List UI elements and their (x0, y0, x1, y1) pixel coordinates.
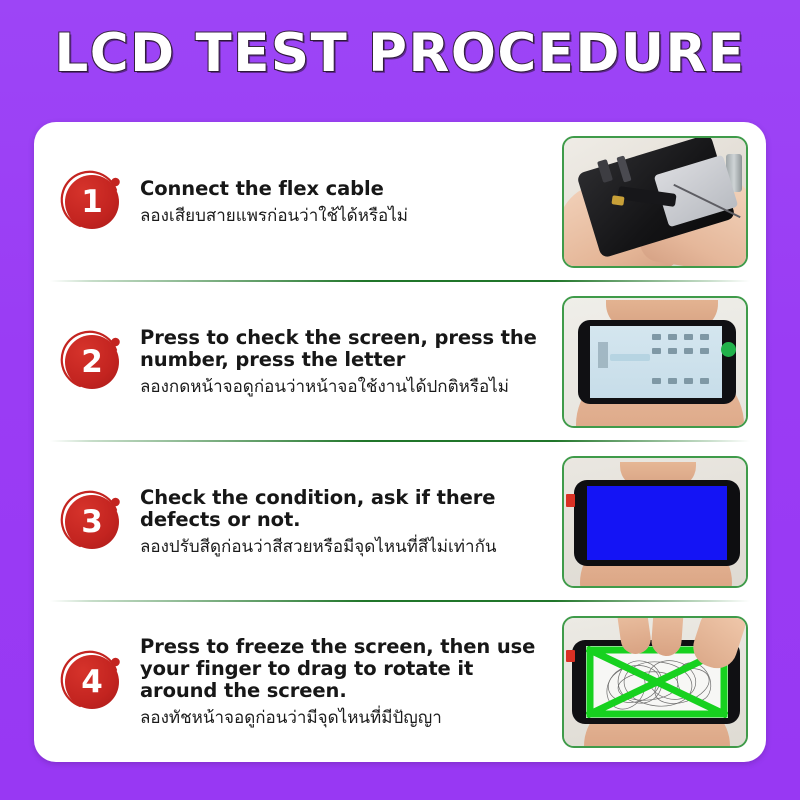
step-number-4: 4 (65, 655, 119, 709)
title-container: LCD TEST PROCEDURE (0, 26, 800, 82)
step-number-1: 1 (65, 175, 119, 229)
step-title-th-2: ลองกดหน้าจอดูก่อนว่าหน้าจอใช้งานได้ปกติห… (140, 376, 554, 397)
step-text-2: Press to check the screen, press the num… (140, 327, 562, 397)
page-title: LCD TEST PROCEDURE (54, 26, 745, 82)
step-title-en-1: Connect the flex cable (140, 178, 554, 200)
blue-screen-photo (564, 458, 746, 586)
flex-cable-photo (564, 138, 746, 266)
poster: LCD TEST PROCEDURE 1 Connect the flex ca… (0, 0, 800, 800)
step-title-th-3: ลองปรับสีดูก่อนว่าสีสวยหรือมีจุดไหนที่สี… (140, 536, 554, 557)
step-number-badge-3: 3 (58, 488, 126, 556)
touch-test-photo (564, 618, 746, 746)
step-number-3: 3 (65, 495, 119, 549)
step-photo-2 (562, 296, 748, 428)
step-row-2: 2 Press to check the screen, press the n… (34, 282, 766, 442)
steps-list: 1 Connect the flex cable ลองเสียบสายแพรก… (34, 122, 766, 762)
step-title-th-1: ลองเสียบสายแพรก่อนว่าใช้ได้หรือไม่ (140, 205, 554, 226)
step-title-en-2: Press to check the screen, press the num… (140, 327, 554, 371)
step-number-2: 2 (65, 335, 119, 389)
step-photo-4 (562, 616, 748, 748)
step-text-3: Check the condition, ask if there defect… (140, 487, 562, 557)
step-title-en-4: Press to freeze the screen, then use you… (140, 636, 554, 701)
step-row-1: 1 Connect the flex cable ลองเสียบสายแพรก… (34, 122, 766, 282)
step-number-badge-1: 1 (58, 168, 126, 236)
step-photo-1 (562, 136, 748, 268)
step-title-en-3: Check the condition, ask if there defect… (140, 487, 554, 531)
step-text-4: Press to freeze the screen, then use you… (140, 636, 562, 728)
step-number-badge-4: 4 (58, 648, 126, 716)
step-row-3: 3 Check the condition, ask if there defe… (34, 442, 766, 602)
step-number-badge-2: 2 (58, 328, 126, 396)
step-photo-3 (562, 456, 748, 588)
step-text-1: Connect the flex cable ลองเสียบสายแพรก่อ… (140, 178, 562, 226)
step-title-th-4: ลองทัชหน้าจอดูก่อนว่ามีจุดไหนที่มีปัญญา (140, 707, 554, 728)
steps-card: 1 Connect the flex cable ลองเสียบสายแพรก… (34, 122, 766, 762)
step-row-4: 4 Press to freeze the screen, then use y… (34, 602, 766, 762)
dialer-photo (564, 298, 746, 426)
